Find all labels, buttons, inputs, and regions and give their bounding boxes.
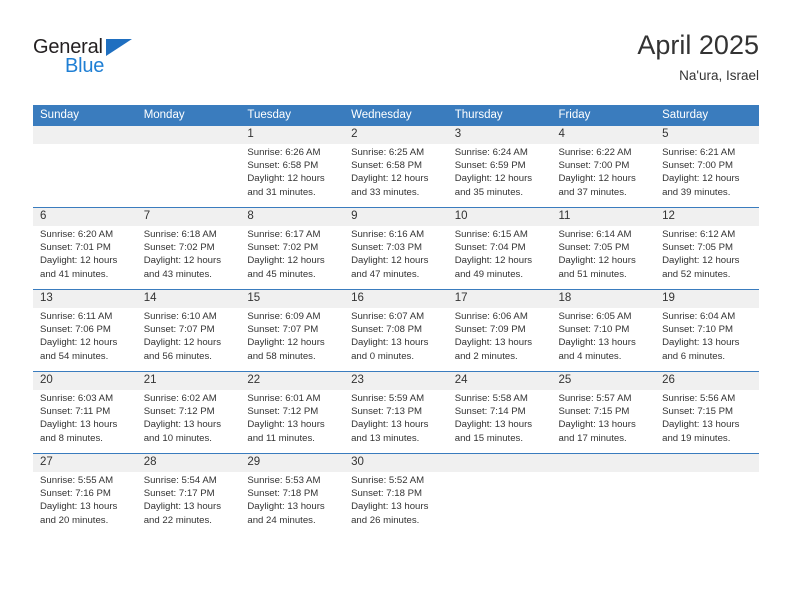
week-5-detail-row: Sunrise: 5:55 AM Sunset: 7:16 PM Dayligh… — [33, 472, 759, 535]
weekday-header-tuesday: Tuesday — [240, 105, 344, 126]
daylight-text-line2: and 54 minutes. — [40, 350, 131, 363]
daylight-text-line2: and 8 minutes. — [40, 432, 131, 445]
daylight-text-line2: and 13 minutes. — [351, 432, 442, 445]
sunrise-text: Sunrise: 6:03 AM — [40, 392, 131, 405]
sunrise-text: Sunrise: 6:05 AM — [558, 310, 649, 323]
day-cell: Sunrise: 6:06 AM Sunset: 7:09 PM Dayligh… — [448, 308, 552, 371]
day-number: 8 — [240, 208, 344, 226]
daylight-text-line1: Daylight: 12 hours — [144, 254, 235, 267]
daylight-text-line2: and 26 minutes. — [351, 514, 442, 527]
sunset-text: Sunset: 7:04 PM — [455, 241, 546, 254]
daylight-text-line1: Daylight: 12 hours — [40, 336, 131, 349]
daylight-text-line1: Daylight: 12 hours — [558, 172, 649, 185]
location-subtitle: Na'ura, Israel — [637, 66, 759, 86]
day-cell: Sunrise: 6:11 AM Sunset: 7:06 PM Dayligh… — [33, 308, 137, 371]
day-number: 22 — [240, 372, 344, 390]
sunrise-text: Sunrise: 5:54 AM — [144, 474, 235, 487]
daylight-text-line2: and 51 minutes. — [558, 268, 649, 281]
sunset-text: Sunset: 6:59 PM — [455, 159, 546, 172]
day-cell — [33, 144, 137, 207]
daylight-text-line1: Daylight: 13 hours — [662, 336, 753, 349]
daylight-text-line1: Daylight: 12 hours — [662, 254, 753, 267]
daylight-text-line2: and 31 minutes. — [247, 186, 338, 199]
sunset-text: Sunset: 7:02 PM — [247, 241, 338, 254]
logo-text-blue: Blue — [65, 55, 104, 78]
daylight-text-line2: and 2 minutes. — [455, 350, 546, 363]
day-number: 3 — [448, 126, 552, 144]
sunrise-text: Sunrise: 6:06 AM — [455, 310, 546, 323]
day-cell: Sunrise: 6:07 AM Sunset: 7:08 PM Dayligh… — [344, 308, 448, 371]
daylight-text-line1: Daylight: 12 hours — [558, 254, 649, 267]
sunrise-text: Sunrise: 5:55 AM — [40, 474, 131, 487]
daylight-text-line2: and 17 minutes. — [558, 432, 649, 445]
daylight-text-line1: Daylight: 12 hours — [40, 254, 131, 267]
sunset-text: Sunset: 6:58 PM — [351, 159, 442, 172]
daylight-text-line1: Daylight: 12 hours — [247, 336, 338, 349]
daylight-text-line1: Daylight: 13 hours — [247, 500, 338, 513]
day-number: 28 — [137, 454, 241, 472]
weekday-header-thursday: Thursday — [448, 105, 552, 126]
day-number: 21 — [137, 372, 241, 390]
week-1-detail-row: Sunrise: 6:26 AM Sunset: 6:58 PM Dayligh… — [33, 144, 759, 207]
week-1-daynumber-row: 1 2 3 4 5 — [33, 126, 759, 144]
day-cell: Sunrise: 6:22 AM Sunset: 7:00 PM Dayligh… — [551, 144, 655, 207]
day-number: 26 — [655, 372, 759, 390]
sunset-text: Sunset: 7:13 PM — [351, 405, 442, 418]
week-4-daynumber-row: 20 21 22 23 24 25 26 — [33, 372, 759, 390]
daylight-text-line1: Daylight: 13 hours — [351, 336, 442, 349]
sunrise-text: Sunrise: 6:01 AM — [247, 392, 338, 405]
sunset-text: Sunset: 7:17 PM — [144, 487, 235, 500]
day-number: 29 — [240, 454, 344, 472]
daylight-text-line2: and 49 minutes. — [455, 268, 546, 281]
day-number: 5 — [655, 126, 759, 144]
day-number: 6 — [33, 208, 137, 226]
day-number — [448, 454, 552, 472]
day-cell: Sunrise: 6:03 AM Sunset: 7:11 PM Dayligh… — [33, 390, 137, 453]
sunrise-sunset-calendar-table: Sunday Monday Tuesday Wednesday Thursday… — [33, 105, 759, 535]
sunrise-text: Sunrise: 6:15 AM — [455, 228, 546, 241]
daylight-text-line2: and 39 minutes. — [662, 186, 753, 199]
daylight-text-line2: and 43 minutes. — [144, 268, 235, 281]
daylight-text-line1: Daylight: 13 hours — [455, 336, 546, 349]
daylight-text-line2: and 10 minutes. — [144, 432, 235, 445]
day-number: 7 — [137, 208, 241, 226]
sunset-text: Sunset: 7:15 PM — [662, 405, 753, 418]
day-number — [655, 454, 759, 472]
day-number: 1 — [240, 126, 344, 144]
day-number: 15 — [240, 290, 344, 308]
day-number: 24 — [448, 372, 552, 390]
title-block: April 2025 Na'ura, Israel — [637, 28, 759, 86]
daylight-text-line2: and 15 minutes. — [455, 432, 546, 445]
daylight-text-line1: Daylight: 13 hours — [351, 418, 442, 431]
page-title: April 2025 — [637, 28, 759, 62]
sunset-text: Sunset: 7:14 PM — [455, 405, 546, 418]
weekday-header-row: Sunday Monday Tuesday Wednesday Thursday… — [33, 105, 759, 126]
week-2-detail-row: Sunrise: 6:20 AM Sunset: 7:01 PM Dayligh… — [33, 226, 759, 289]
sunrise-text: Sunrise: 6:16 AM — [351, 228, 442, 241]
sunrise-text: Sunrise: 5:58 AM — [455, 392, 546, 405]
day-number: 11 — [551, 208, 655, 226]
sunrise-text: Sunrise: 6:26 AM — [247, 146, 338, 159]
day-number: 10 — [448, 208, 552, 226]
day-cell: Sunrise: 6:25 AM Sunset: 6:58 PM Dayligh… — [344, 144, 448, 207]
sunrise-text: Sunrise: 6:14 AM — [558, 228, 649, 241]
sunrise-text: Sunrise: 6:12 AM — [662, 228, 753, 241]
day-cell: Sunrise: 6:05 AM Sunset: 7:10 PM Dayligh… — [551, 308, 655, 371]
sunset-text: Sunset: 7:18 PM — [247, 487, 338, 500]
sunset-text: Sunset: 7:07 PM — [247, 323, 338, 336]
sunrise-text: Sunrise: 6:21 AM — [662, 146, 753, 159]
sunrise-text: Sunrise: 6:07 AM — [351, 310, 442, 323]
day-cell: Sunrise: 6:04 AM Sunset: 7:10 PM Dayligh… — [655, 308, 759, 371]
daylight-text-line1: Daylight: 12 hours — [455, 254, 546, 267]
calendar-page: General Blue April 2025 Na'ura, Israel S… — [0, 0, 792, 612]
sunset-text: Sunset: 7:11 PM — [40, 405, 131, 418]
day-number — [137, 126, 241, 144]
sunset-text: Sunset: 7:18 PM — [351, 487, 442, 500]
day-number: 12 — [655, 208, 759, 226]
sunset-text: Sunset: 7:00 PM — [662, 159, 753, 172]
daylight-text-line2: and 6 minutes. — [662, 350, 753, 363]
day-number: 9 — [344, 208, 448, 226]
sunrise-text: Sunrise: 5:59 AM — [351, 392, 442, 405]
daylight-text-line2: and 4 minutes. — [558, 350, 649, 363]
sunset-text: Sunset: 7:08 PM — [351, 323, 442, 336]
weekday-header-wednesday: Wednesday — [344, 105, 448, 126]
day-cell: Sunrise: 6:09 AM Sunset: 7:07 PM Dayligh… — [240, 308, 344, 371]
sunrise-text: Sunrise: 6:17 AM — [247, 228, 338, 241]
week-3-detail-row: Sunrise: 6:11 AM Sunset: 7:06 PM Dayligh… — [33, 308, 759, 371]
day-cell: Sunrise: 6:14 AM Sunset: 7:05 PM Dayligh… — [551, 226, 655, 289]
day-number: 25 — [551, 372, 655, 390]
day-cell: Sunrise: 5:55 AM Sunset: 7:16 PM Dayligh… — [33, 472, 137, 535]
sunset-text: Sunset: 7:05 PM — [558, 241, 649, 254]
day-number: 27 — [33, 454, 137, 472]
sunset-text: Sunset: 7:02 PM — [144, 241, 235, 254]
daylight-text-line2: and 22 minutes. — [144, 514, 235, 527]
weekday-header-sunday: Sunday — [33, 105, 137, 126]
daylight-text-line2: and 52 minutes. — [662, 268, 753, 281]
day-cell: Sunrise: 6:17 AM Sunset: 7:02 PM Dayligh… — [240, 226, 344, 289]
daylight-text-line2: and 41 minutes. — [40, 268, 131, 281]
page-header: General Blue April 2025 Na'ura, Israel — [33, 28, 759, 98]
daylight-text-line2: and 35 minutes. — [455, 186, 546, 199]
sunrise-text: Sunrise: 6:20 AM — [40, 228, 131, 241]
day-number: 30 — [344, 454, 448, 472]
day-cell: Sunrise: 6:24 AM Sunset: 6:59 PM Dayligh… — [448, 144, 552, 207]
day-cell: Sunrise: 6:21 AM Sunset: 7:00 PM Dayligh… — [655, 144, 759, 207]
daylight-text-line1: Daylight: 13 hours — [558, 418, 649, 431]
daylight-text-line2: and 0 minutes. — [351, 350, 442, 363]
day-cell: Sunrise: 6:10 AM Sunset: 7:07 PM Dayligh… — [137, 308, 241, 371]
sunrise-text: Sunrise: 6:11 AM — [40, 310, 131, 323]
day-cell: Sunrise: 5:54 AM Sunset: 7:17 PM Dayligh… — [137, 472, 241, 535]
day-cell: Sunrise: 6:20 AM Sunset: 7:01 PM Dayligh… — [33, 226, 137, 289]
logo-triangle-icon — [106, 39, 132, 56]
day-cell: Sunrise: 5:59 AM Sunset: 7:13 PM Dayligh… — [344, 390, 448, 453]
day-number: 20 — [33, 372, 137, 390]
day-cell — [137, 144, 241, 207]
day-cell: Sunrise: 5:56 AM Sunset: 7:15 PM Dayligh… — [655, 390, 759, 453]
sunrise-text: Sunrise: 6:09 AM — [247, 310, 338, 323]
sunrise-text: Sunrise: 6:18 AM — [144, 228, 235, 241]
daylight-text-line2: and 37 minutes. — [558, 186, 649, 199]
day-cell: Sunrise: 5:58 AM Sunset: 7:14 PM Dayligh… — [448, 390, 552, 453]
day-cell: Sunrise: 6:26 AM Sunset: 6:58 PM Dayligh… — [240, 144, 344, 207]
sunset-text: Sunset: 7:00 PM — [558, 159, 649, 172]
sunset-text: Sunset: 7:07 PM — [144, 323, 235, 336]
sunrise-text: Sunrise: 6:10 AM — [144, 310, 235, 323]
sunrise-text: Sunrise: 5:52 AM — [351, 474, 442, 487]
sunset-text: Sunset: 6:58 PM — [247, 159, 338, 172]
sunset-text: Sunset: 7:12 PM — [144, 405, 235, 418]
day-number: 19 — [655, 290, 759, 308]
day-number: 2 — [344, 126, 448, 144]
daylight-text-line1: Daylight: 12 hours — [351, 172, 442, 185]
day-cell — [551, 472, 655, 535]
daylight-text-line1: Daylight: 13 hours — [40, 500, 131, 513]
sunset-text: Sunset: 7:03 PM — [351, 241, 442, 254]
sunset-text: Sunset: 7:10 PM — [558, 323, 649, 336]
weekday-header-monday: Monday — [137, 105, 241, 126]
day-cell: Sunrise: 5:57 AM Sunset: 7:15 PM Dayligh… — [551, 390, 655, 453]
day-number: 16 — [344, 290, 448, 308]
day-cell: Sunrise: 5:53 AM Sunset: 7:18 PM Dayligh… — [240, 472, 344, 535]
daylight-text-line2: and 45 minutes. — [247, 268, 338, 281]
daylight-text-line1: Daylight: 13 hours — [558, 336, 649, 349]
sunset-text: Sunset: 7:10 PM — [662, 323, 753, 336]
weekday-header-saturday: Saturday — [655, 105, 759, 126]
day-cell: Sunrise: 5:52 AM Sunset: 7:18 PM Dayligh… — [344, 472, 448, 535]
day-number — [551, 454, 655, 472]
week-4-detail-row: Sunrise: 6:03 AM Sunset: 7:11 PM Dayligh… — [33, 390, 759, 453]
sunrise-text: Sunrise: 5:53 AM — [247, 474, 338, 487]
daylight-text-line1: Daylight: 13 hours — [455, 418, 546, 431]
day-cell — [655, 472, 759, 535]
day-cell: Sunrise: 6:16 AM Sunset: 7:03 PM Dayligh… — [344, 226, 448, 289]
sunset-text: Sunset: 7:06 PM — [40, 323, 131, 336]
day-number: 4 — [551, 126, 655, 144]
daylight-text-line1: Daylight: 12 hours — [351, 254, 442, 267]
day-cell — [448, 472, 552, 535]
day-cell: Sunrise: 6:12 AM Sunset: 7:05 PM Dayligh… — [655, 226, 759, 289]
daylight-text-line1: Daylight: 12 hours — [455, 172, 546, 185]
general-blue-logo: General Blue — [33, 36, 163, 88]
day-number — [33, 126, 137, 144]
daylight-text-line1: Daylight: 13 hours — [351, 500, 442, 513]
daylight-text-line2: and 56 minutes. — [144, 350, 235, 363]
sunrise-text: Sunrise: 6:22 AM — [558, 146, 649, 159]
daylight-text-line2: and 19 minutes. — [662, 432, 753, 445]
daylight-text-line2: and 11 minutes. — [247, 432, 338, 445]
daylight-text-line1: Daylight: 13 hours — [40, 418, 131, 431]
day-number: 13 — [33, 290, 137, 308]
sunrise-text: Sunrise: 5:56 AM — [662, 392, 753, 405]
daylight-text-line2: and 58 minutes. — [247, 350, 338, 363]
sunrise-text: Sunrise: 6:02 AM — [144, 392, 235, 405]
day-cell: Sunrise: 6:18 AM Sunset: 7:02 PM Dayligh… — [137, 226, 241, 289]
daylight-text-line1: Daylight: 13 hours — [144, 500, 235, 513]
sunset-text: Sunset: 7:16 PM — [40, 487, 131, 500]
daylight-text-line1: Daylight: 13 hours — [247, 418, 338, 431]
sunset-text: Sunset: 7:12 PM — [247, 405, 338, 418]
daylight-text-line2: and 24 minutes. — [247, 514, 338, 527]
sunset-text: Sunset: 7:09 PM — [455, 323, 546, 336]
daylight-text-line1: Daylight: 13 hours — [662, 418, 753, 431]
day-cell: Sunrise: 6:01 AM Sunset: 7:12 PM Dayligh… — [240, 390, 344, 453]
week-2-daynumber-row: 6 7 8 9 10 11 12 — [33, 208, 759, 226]
daylight-text-line1: Daylight: 12 hours — [247, 254, 338, 267]
daylight-text-line2: and 20 minutes. — [40, 514, 131, 527]
daylight-text-line1: Daylight: 12 hours — [247, 172, 338, 185]
daylight-text-line1: Daylight: 13 hours — [144, 418, 235, 431]
day-number: 18 — [551, 290, 655, 308]
day-number: 23 — [344, 372, 448, 390]
daylight-text-line1: Daylight: 12 hours — [662, 172, 753, 185]
day-number: 17 — [448, 290, 552, 308]
sunrise-text: Sunrise: 5:57 AM — [558, 392, 649, 405]
sunrise-text: Sunrise: 6:24 AM — [455, 146, 546, 159]
week-3-daynumber-row: 13 14 15 16 17 18 19 — [33, 290, 759, 308]
daylight-text-line1: Daylight: 12 hours — [144, 336, 235, 349]
sunrise-text: Sunrise: 6:25 AM — [351, 146, 442, 159]
day-number: 14 — [137, 290, 241, 308]
sunrise-text: Sunrise: 6:04 AM — [662, 310, 753, 323]
daylight-text-line2: and 47 minutes. — [351, 268, 442, 281]
week-5-daynumber-row: 27 28 29 30 — [33, 454, 759, 472]
sunset-text: Sunset: 7:15 PM — [558, 405, 649, 418]
daylight-text-line2: and 33 minutes. — [351, 186, 442, 199]
weekday-header-friday: Friday — [551, 105, 655, 126]
sunset-text: Sunset: 7:05 PM — [662, 241, 753, 254]
day-cell: Sunrise: 6:02 AM Sunset: 7:12 PM Dayligh… — [137, 390, 241, 453]
sunset-text: Sunset: 7:01 PM — [40, 241, 131, 254]
day-cell: Sunrise: 6:15 AM Sunset: 7:04 PM Dayligh… — [448, 226, 552, 289]
